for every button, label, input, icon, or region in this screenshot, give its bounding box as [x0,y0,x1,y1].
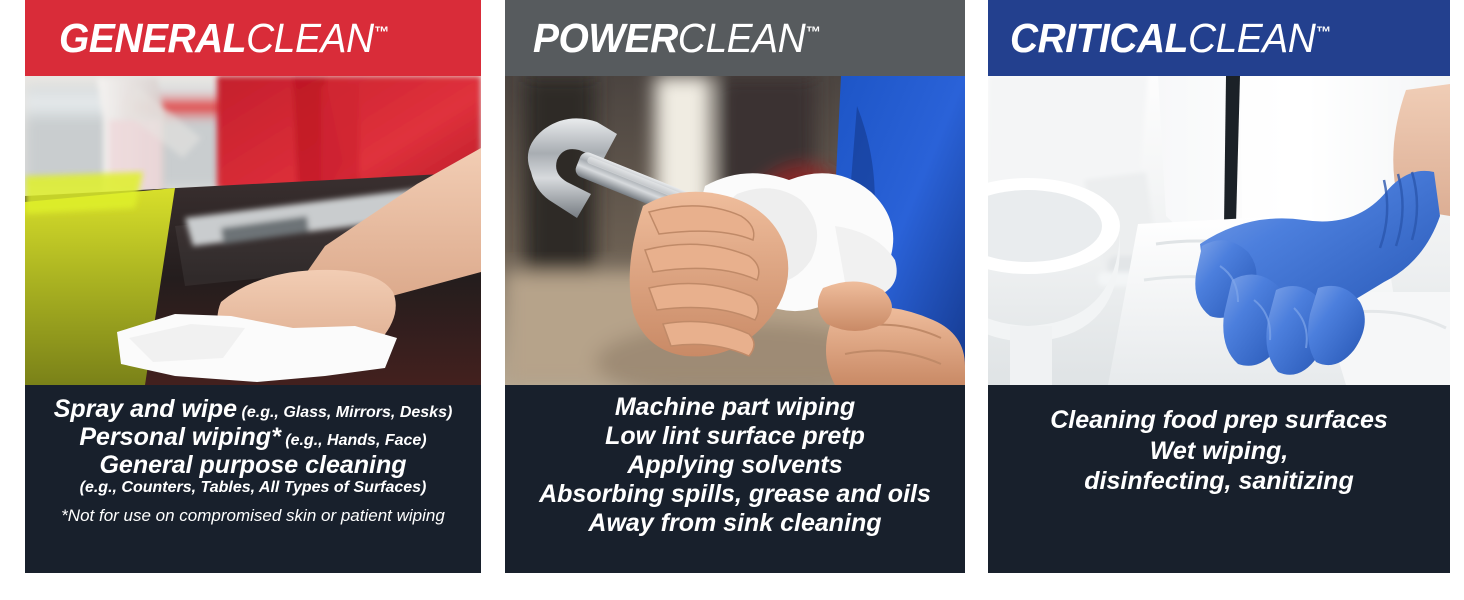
wordmark-power-clean: POWERCLEAN™ [533,18,820,59]
panel-photo-power-clean [505,76,965,385]
caption-line: Machine part wiping [615,393,855,422]
product-panel-general-clean[interactable]: GENERALCLEAN™ [25,0,481,573]
caption-line: General purpose cleaning [99,451,406,479]
trademark-symbol: ™ [374,24,389,41]
caption-line: Cleaning food prep surfaces [1050,405,1388,436]
caption-main: Spray and wipe [54,395,237,423]
trademark-symbol: ™ [805,24,820,41]
wordmark-strong: POWER [533,15,678,61]
panel-header-power-clean: POWERCLEAN™ [505,0,965,76]
caption-line: Applying solvents [627,451,842,480]
panel-header-general-clean: GENERALCLEAN™ [25,0,481,76]
caption-main: Personal wiping* [79,423,280,451]
caption-line: Absorbing spills, grease and oils [539,480,931,509]
caption-detail: (e.g., Glass, Mirrors, Desks) [237,404,452,421]
product-panel-critical-clean[interactable]: CRITICALCLEAN™ [988,0,1450,573]
panel-caption-general-clean: Spray and wipe (e.g., Glass, Mirrors, De… [25,385,481,573]
caption-line: Away from sink cleaning [588,509,881,538]
panel-photo-critical-clean [988,76,1450,385]
wordmark-light: CLEAN [678,15,806,61]
wordmark-general-clean: GENERALCLEAN™ [59,18,389,59]
product-category-board: GENERALCLEAN™ [0,0,1464,600]
caption-footnote: *Not for use on compromised skin or pati… [61,506,445,525]
caption-line: Low lint surface pretp [605,422,865,451]
caption-line: Personal wiping* (e.g., Hands, Face) [79,423,426,451]
product-panel-power-clean[interactable]: POWERCLEAN™ [505,0,965,573]
trademark-symbol: ™ [1315,24,1330,41]
panel-photo-general-clean [25,76,481,385]
photo-illustration-wrench-wiping [505,76,965,385]
wordmark-light: CLEAN [246,15,374,61]
wordmark-light: CLEAN [1188,15,1316,61]
wordmark-critical-clean: CRITICALCLEAN™ [1010,18,1331,59]
panel-header-critical-clean: CRITICALCLEAN™ [988,0,1450,76]
caption-line: disinfecting, sanitizing [1084,466,1353,497]
caption-subline: (e.g., Counters, Tables, All Types of Su… [80,479,427,497]
caption-line: Wet wiping, [1150,436,1288,467]
wordmark-strong: CRITICAL [1010,15,1188,61]
caption-line: Spray and wipe (e.g., Glass, Mirrors, De… [54,395,453,423]
panel-caption-critical-clean: Cleaning food prep surfaces Wet wiping, … [988,385,1450,573]
photo-illustration-counter-wiping [25,76,481,385]
wordmark-strong: GENERAL [59,15,246,61]
caption-detail: (e.g., Hands, Face) [281,432,427,449]
photo-illustration-gloved-hand-wiping [988,76,1450,385]
panel-caption-power-clean: Machine part wiping Low lint surface pre… [505,385,965,573]
